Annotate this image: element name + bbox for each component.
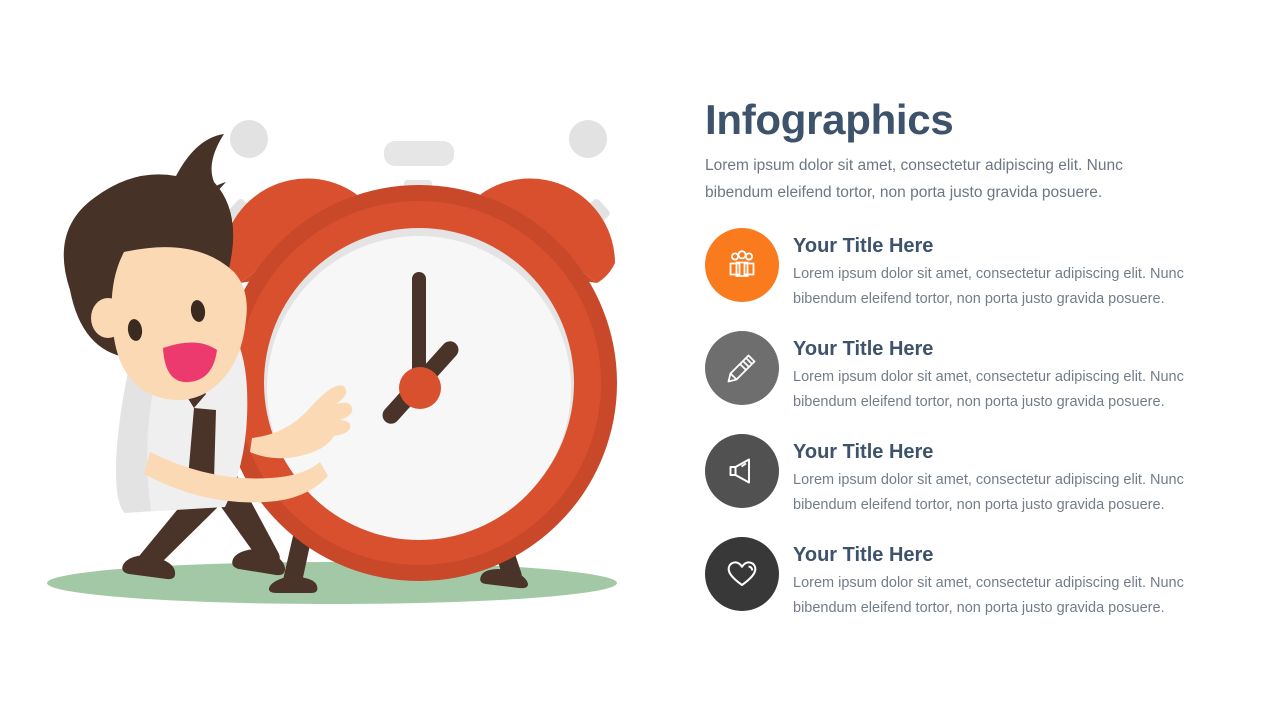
list-item-description: Lorem ipsum dolor sit amet, consectetur … (793, 468, 1203, 518)
list-item[interactable]: Your Title Here Lorem ipsum dolor sit am… (705, 434, 1225, 518)
list-item-title: Your Title Here (793, 543, 1225, 567)
users-group-icon (724, 247, 760, 283)
speaker-icon (724, 453, 760, 489)
list-item-body: Your Title Here Lorem ipsum dolor sit am… (793, 537, 1225, 621)
list-item-title: Your Title Here (793, 440, 1225, 464)
feature-list: Your Title Here Lorem ipsum dolor sit am… (705, 228, 1225, 621)
illustration-businessman-with-alarm-clock (0, 0, 680, 720)
list-item-title: Your Title Here (793, 234, 1225, 258)
list-item-body: Your Title Here Lorem ipsum dolor sit am… (793, 228, 1225, 312)
list-item[interactable]: Your Title Here Lorem ipsum dolor sit am… (705, 228, 1225, 312)
pencil-icon (724, 350, 760, 386)
intro-paragraph: Lorem ipsum dolor sit amet, consectetur … (705, 153, 1195, 206)
list-item-body: Your Title Here Lorem ipsum dolor sit am… (793, 331, 1225, 415)
bell-knob-right (569, 120, 607, 158)
bell-knob-left (230, 120, 268, 158)
icon-circle-heart[interactable] (705, 537, 779, 611)
list-item-description: Lorem ipsum dolor sit amet, consectetur … (793, 262, 1203, 312)
icon-circle-pencil[interactable] (705, 331, 779, 405)
clock-center-hub (399, 367, 441, 409)
content-panel: Infographics Lorem ipsum dolor sit amet,… (705, 96, 1225, 640)
slide-canvas: Infographics Lorem ipsum dolor sit amet,… (0, 0, 1280, 720)
list-item-description: Lorem ipsum dolor sit amet, consectetur … (793, 365, 1203, 415)
list-item-body: Your Title Here Lorem ipsum dolor sit am… (793, 434, 1225, 518)
list-item-description: Lorem ipsum dolor sit amet, consectetur … (793, 571, 1203, 621)
page-title: Infographics (705, 96, 1225, 143)
list-item[interactable]: Your Title Here Lorem ipsum dolor sit am… (705, 331, 1225, 415)
heart-icon (724, 556, 760, 592)
icon-circle-users[interactable] (705, 228, 779, 302)
list-item-title: Your Title Here (793, 337, 1225, 361)
list-item[interactable]: Your Title Here Lorem ipsum dolor sit am… (705, 537, 1225, 621)
icon-circle-speaker[interactable] (705, 434, 779, 508)
